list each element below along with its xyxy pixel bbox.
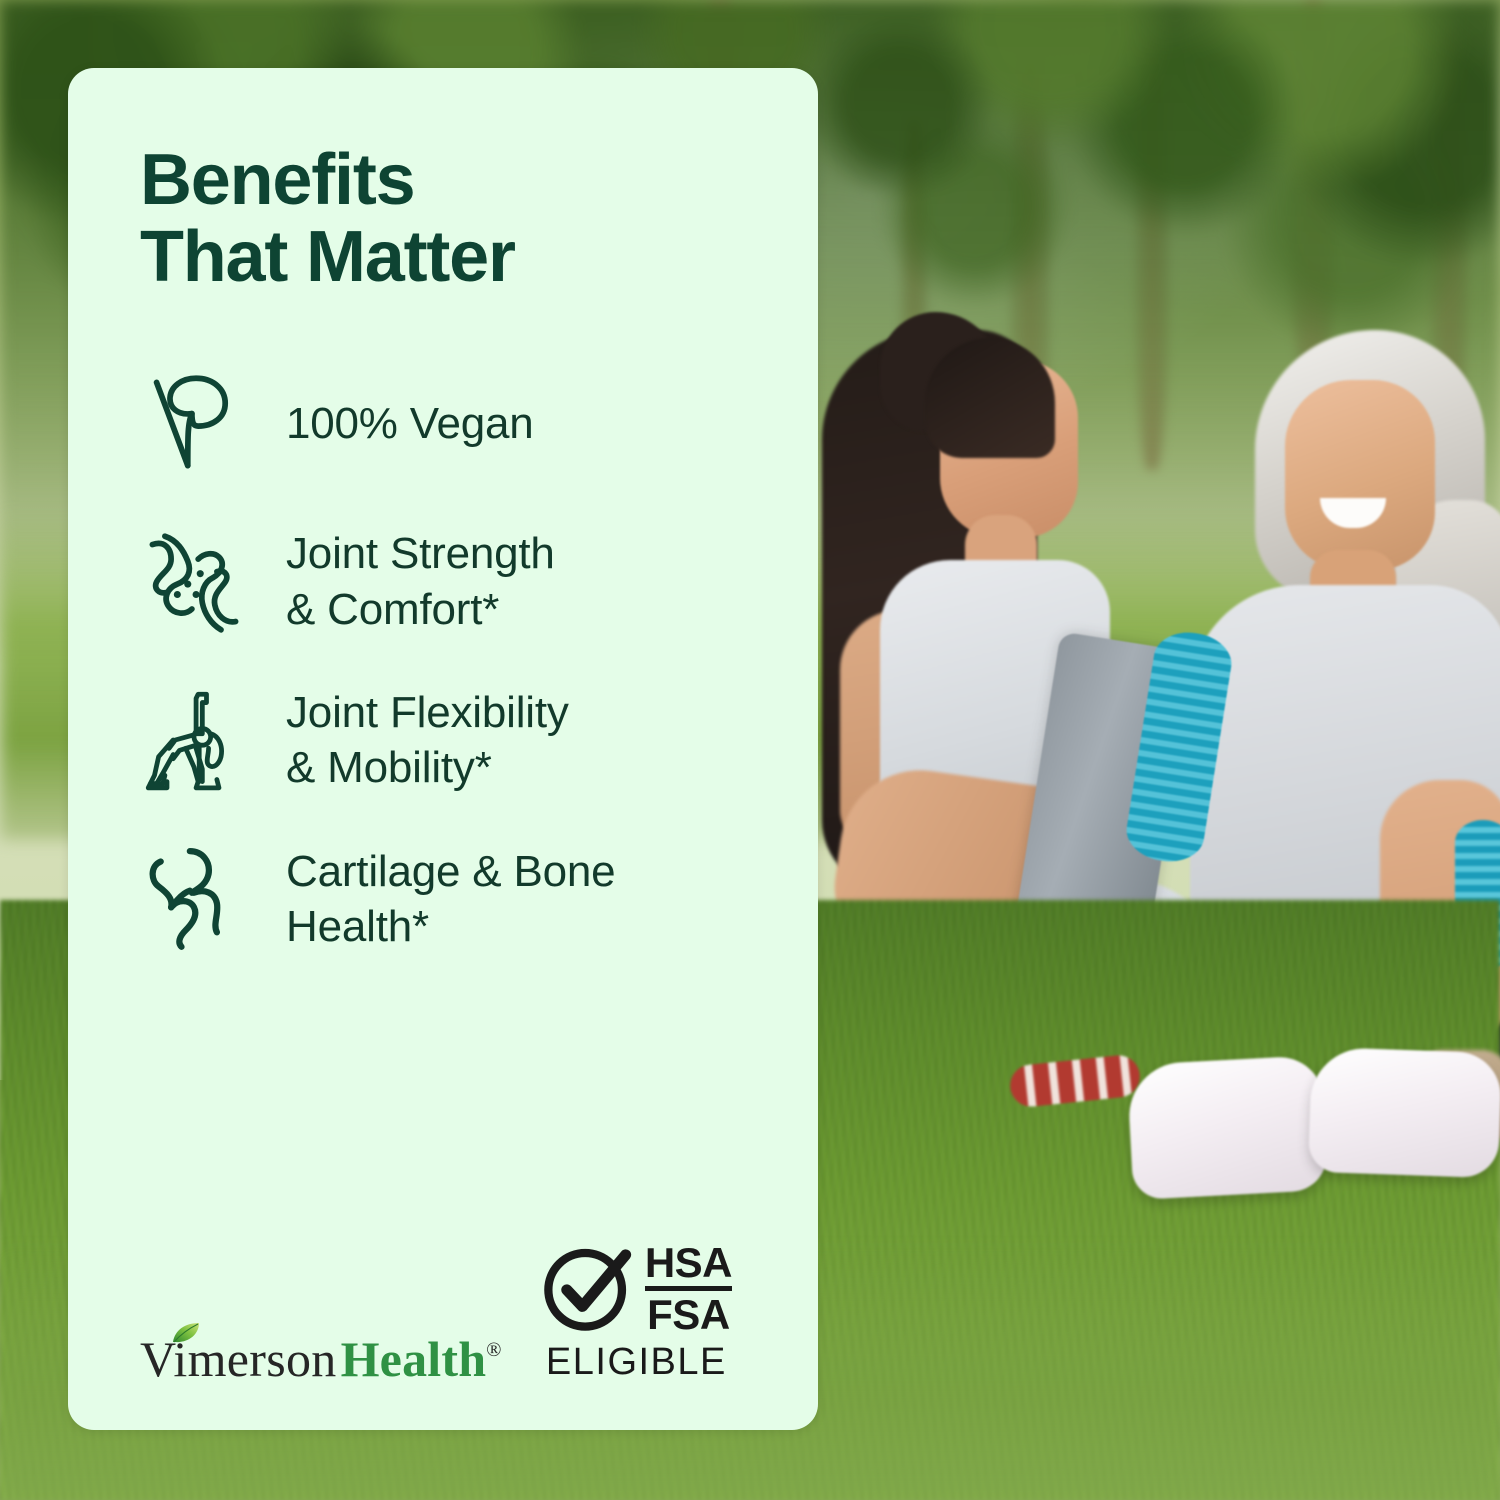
fsa-label: FSA (645, 1294, 732, 1335)
benefit-label: Joint Strength & Comfort* (286, 526, 555, 637)
benefits-list: 100% Vegan Joint Strength (140, 370, 762, 955)
circle-check-icon (541, 1242, 633, 1334)
sneaker (1127, 1055, 1329, 1200)
benefit-item: Cartilage & Bone Health* (140, 844, 762, 955)
page-title: Benefits That Matter (140, 142, 762, 296)
product-benefits-image: Benefits That Matter 100% Vegan (0, 0, 1500, 1500)
hsa-fsa-eligible-badge: HSA FSA ELIGIBLE (541, 1242, 732, 1384)
card-footer: Vimerson Health® HSA FSA (140, 1242, 762, 1384)
benefit-item: Joint Strength & Comfort* (140, 526, 762, 637)
registered-trademark-mark: ® (486, 1339, 501, 1361)
yoga-stretch-icon (140, 686, 248, 794)
sneaker (1308, 1047, 1500, 1179)
eligible-label: ELIGIBLE (546, 1341, 727, 1384)
hair-front (925, 338, 1055, 458)
hsa-fsa-text-stack: HSA FSA (645, 1242, 732, 1335)
benefit-item: 100% Vegan (140, 370, 762, 478)
leaf-icon (171, 1322, 201, 1344)
benefit-label: 100% Vegan (286, 396, 534, 451)
benefit-label: Joint Flexibility & Mobility* (286, 685, 569, 796)
brand-logo: Vimerson Health® (140, 1334, 501, 1384)
hsa-label: HSA (645, 1242, 732, 1283)
benefit-label: Cartilage & Bone Health* (286, 844, 615, 955)
cartilage-bone-icon (140, 845, 248, 953)
benefit-item: Joint Flexibility & Mobility* (140, 685, 762, 796)
brand-name-accent: Health (341, 1331, 487, 1387)
brand-name-primary: Vimerson (140, 1331, 337, 1387)
leaf-sprout-icon (140, 370, 248, 478)
face (1285, 380, 1435, 570)
hsa-badge-top-row: HSA FSA (541, 1242, 732, 1335)
knee-joint-icon (140, 528, 248, 636)
benefits-card: Benefits That Matter 100% Vegan (68, 68, 818, 1430)
